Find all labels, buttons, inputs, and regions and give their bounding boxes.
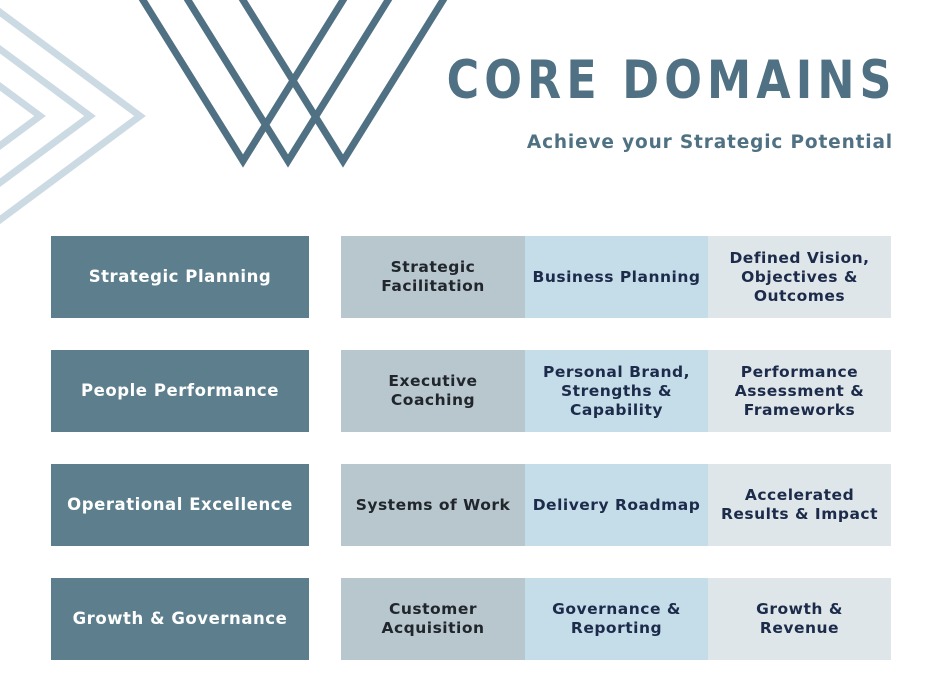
capability-cell[interactable]: Performance Assessment & Frameworks <box>708 350 891 432</box>
light-chevron-1 <box>0 0 140 235</box>
domain-label-growth-governance[interactable]: Growth & Governance <box>51 578 309 660</box>
capability-cell[interactable]: Business Planning <box>525 236 708 318</box>
capability-text: Systems of Work <box>356 496 511 515</box>
capability-text: Growth & Revenue <box>714 600 885 638</box>
domain-label-text: Strategic Planning <box>89 267 272 287</box>
domain-label-text: Operational Excellence <box>67 495 293 515</box>
capability-text: Accelerated Results & Impact <box>714 486 885 524</box>
capability-text: Customer Acquisition <box>347 600 519 638</box>
dark-chevron-1 <box>118 0 368 161</box>
page-subtitle: Achieve your Strategic Potential <box>413 132 893 154</box>
capability-text: Strategic Facilitation <box>347 258 519 296</box>
capability-cell[interactable]: Governance & Reporting <box>525 578 708 660</box>
light-chevron-3 <box>0 0 40 235</box>
capability-text: Executive Coaching <box>347 372 519 410</box>
page-title: CORE DOMAINS <box>447 52 893 110</box>
capability-text: Performance Assessment & Frameworks <box>714 363 885 420</box>
capability-cell[interactable]: Executive Coaching <box>341 350 525 432</box>
domain-label-strategic-planning[interactable]: Strategic Planning <box>51 236 309 318</box>
capability-cell[interactable]: Systems of Work <box>341 464 525 546</box>
dark-chevron-2 <box>163 0 413 161</box>
capability-track: Customer Acquisition Governance & Report… <box>341 578 891 660</box>
capability-track: Systems of Work Delivery Roadmap Acceler… <box>341 464 891 546</box>
capability-text: Personal Brand, Strengths & Capability <box>531 363 702 420</box>
capability-cell[interactable]: Delivery Roadmap <box>525 464 708 546</box>
capability-cell[interactable]: Accelerated Results & Impact <box>708 464 891 546</box>
domain-label-text: Growth & Governance <box>73 609 288 629</box>
capability-cell[interactable]: Strategic Facilitation <box>341 236 525 318</box>
capability-text: Business Planning <box>533 268 701 287</box>
light-chevron-2 <box>0 0 90 235</box>
capability-cell[interactable]: Personal Brand, Strengths & Capability <box>525 350 708 432</box>
domain-label-people-performance[interactable]: People Performance <box>51 350 309 432</box>
capability-text: Governance & Reporting <box>531 600 702 638</box>
domain-label-operational-excellence[interactable]: Operational Excellence <box>51 464 309 546</box>
domain-label-text: People Performance <box>81 381 279 401</box>
capability-cell[interactable]: Customer Acquisition <box>341 578 525 660</box>
light-chevron-group <box>0 0 140 235</box>
capability-track: Strategic Facilitation Business Planning… <box>341 236 891 318</box>
capability-cell[interactable]: Growth & Revenue <box>708 578 891 660</box>
capability-cell[interactable]: Defined Vision, Objectives & Outcomes <box>708 236 891 318</box>
capability-track: Executive Coaching Personal Brand, Stren… <box>341 350 891 432</box>
capability-text: Delivery Roadmap <box>533 496 701 515</box>
header: CORE DOMAINS Achieve your Strategic Pote… <box>413 52 893 154</box>
capability-text: Defined Vision, Objectives & Outcomes <box>714 249 885 306</box>
